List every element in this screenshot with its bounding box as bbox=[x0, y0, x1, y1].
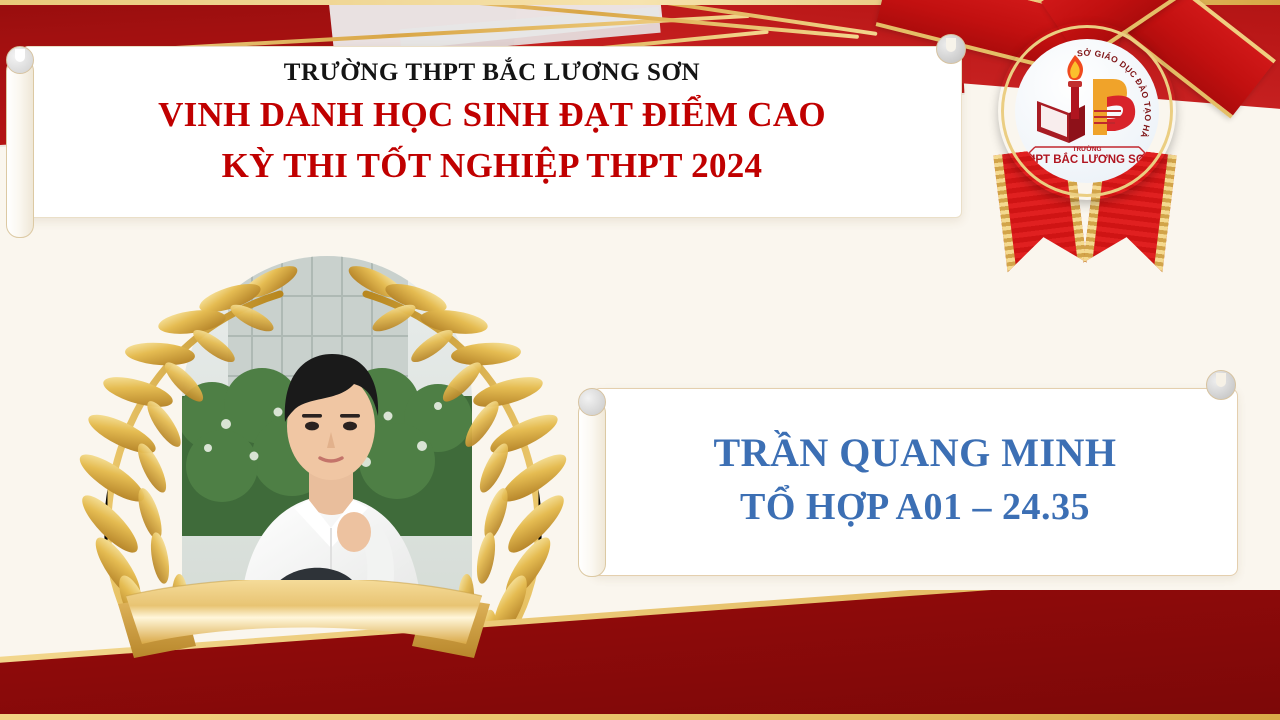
school-emblem-medallion: SỞ GIÁO DỤC ĐÀO TẠO HÀ NỘI bbox=[998, 22, 1176, 200]
monogram-ls bbox=[1093, 79, 1135, 135]
school-name-line: TRƯỜNG THPT BẮC LƯƠNG SƠN bbox=[23, 59, 961, 87]
medal-face: SỞ GIÁO DỤC ĐÀO TẠO HÀ NỘI bbox=[1015, 39, 1159, 183]
award-poster: SỞ GIÁO DỤC ĐÀO TẠO HÀ NỘI bbox=[0, 0, 1280, 720]
student-info-card: TRẦN QUANG MINH TỔ HỢP A01 – 24.35 bbox=[592, 388, 1238, 576]
headline-line-2: KỲ THI TỐT NGHIỆP THPT 2024 bbox=[23, 146, 961, 186]
gold-ribbon-banner bbox=[104, 580, 504, 664]
student-result: TỔ HỢP A01 – 24.35 bbox=[593, 485, 1237, 529]
title-scroll-cap-left bbox=[6, 46, 34, 74]
name-card-cap-left bbox=[578, 388, 606, 416]
emblem-banner-small: TRƯỜNG bbox=[1073, 144, 1102, 153]
title-scroll-cap-right bbox=[936, 34, 966, 64]
name-card-cap-right bbox=[1206, 370, 1236, 400]
emblem-name-banner: TRƯỜNG THPT BẮC LƯƠNG SƠN bbox=[1020, 143, 1154, 166]
bottom-gold-edge bbox=[0, 714, 1280, 720]
headline-line-1: VINH DANH HỌC SINH ĐẠT ĐIỂM CAO bbox=[23, 95, 961, 135]
title-card: TRƯỜNG THPT BẮC LƯƠNG SƠN VINH DANH HỌC … bbox=[22, 46, 962, 218]
student-name: TRẦN QUANG MINH bbox=[593, 429, 1237, 476]
title-scroll-roll-left bbox=[6, 58, 34, 238]
emblem-banner-main: THPT BẮC LƯƠNG SƠN bbox=[1020, 153, 1154, 166]
name-card-roll-left bbox=[578, 400, 606, 577]
